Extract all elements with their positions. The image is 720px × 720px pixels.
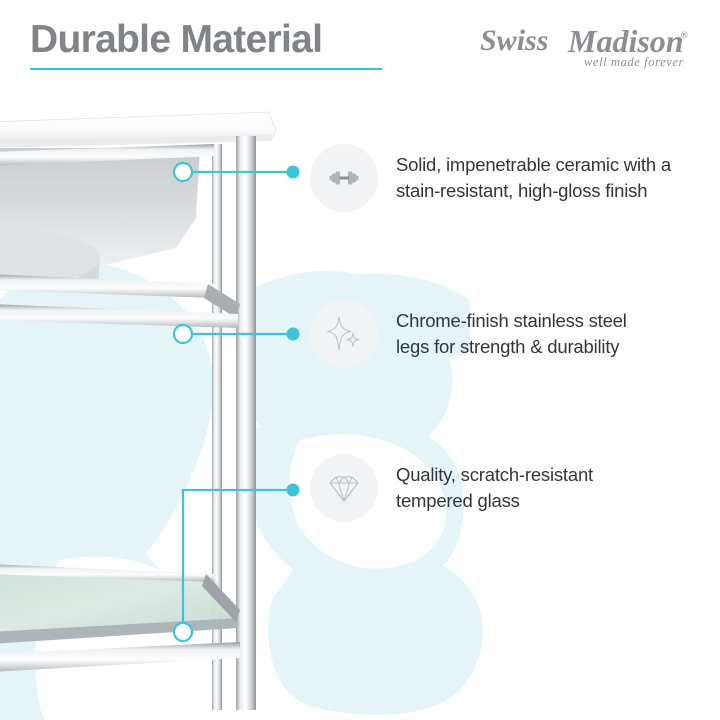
rail-top-diagonal [0,144,214,166]
blob-cutout-1 [35,556,231,720]
blob-lower-left [0,512,188,720]
glass-shelf-top [0,568,238,632]
callout-text-line: legs for strength & durability [396,334,627,360]
brand-tagline: well made forever [584,55,684,69]
callout-text-line: Chrome-finish stainless steel [396,308,627,334]
connector-ring-2 [174,623,192,641]
page-title: Durable Material [30,18,322,62]
rail-upper-front [0,304,238,328]
diamond-outline [330,477,358,501]
callout-icon-wrap [310,144,378,212]
glass-shelf-diagonal-rail [202,574,240,622]
countertop-shadow-edge [0,135,272,148]
callout-icon-wrap [310,300,378,368]
diamond-icon [324,468,364,508]
callout-text-line: stain-resistant, high-gloss finish [396,178,671,204]
title-underline [30,68,382,70]
diamond-crown-left [339,477,345,483]
callout-icon-wrap [310,454,378,522]
dumbbell-bar [340,177,350,180]
callout-text-tempered-glass: Quality, scratch-resistant tempered glas… [396,462,593,514]
sink-basin-lip [76,258,100,284]
dumbbell-icon [323,157,365,199]
blob-left [0,263,213,707]
glass-shelf-rear-rail [0,564,214,582]
rail-upper-diagonal-joint [204,284,240,318]
connector-dot-2 [287,484,300,497]
callout-text-chrome-legs: Chrome-finish stainless steel legs for s… [396,308,627,360]
callout-text-ceramic: Solid, impenetrable ceramic with a stain… [396,152,671,204]
brand-logo-swiss-madison: Swiss Madison ® well made forever [476,18,698,70]
leg-rear-vertical [212,144,222,710]
sink-basin-bottom [0,230,100,286]
leg-front-vertical [236,136,256,710]
callout-item-chrome-legs: Chrome-finish stainless steel legs for s… [310,300,627,368]
callout-text-line: tempered glass [396,488,593,514]
brand-registered-mark: ® [681,30,688,40]
diamond-facet-right [350,477,353,483]
callout-item-tempered-glass: Quality, scratch-resistant tempered glas… [310,454,593,522]
connector-line-2 [183,490,291,624]
connector-ring-0 [174,163,192,181]
glass-shelf-edge [0,618,238,644]
blob-bottom-right [268,549,482,715]
connector-ring-1 [174,325,192,343]
ceramic-countertop [0,112,276,144]
sparkle-small [347,333,359,347]
diamond-facet-left [336,477,339,483]
diamond-crown-right [344,477,350,483]
product-photo-vanity [0,108,300,720]
sink-basin [0,148,200,268]
leg-front-vertical-highlight [243,136,247,710]
rail-upper-horizontal [0,274,216,298]
rail-bottom-front [0,642,240,672]
brand-word-swiss: Swiss [480,24,548,57]
connector-dot-0 [287,166,300,179]
callout-item-ceramic: Solid, impenetrable ceramic with a stain… [310,144,671,212]
callout-text-line: Solid, impenetrable ceramic with a [396,152,671,178]
connector-dot-1 [287,328,300,341]
brand-word-madison: Madison [567,23,684,59]
page-header: Durable Material Swiss Madison ® well ma… [0,0,720,105]
sparkle-large [328,317,351,350]
infographic-page: Durable Material Swiss Madison ® well ma… [0,0,720,720]
callout-text-line: Quality, scratch-resistant [396,462,593,488]
sparkle-icon [322,312,366,356]
